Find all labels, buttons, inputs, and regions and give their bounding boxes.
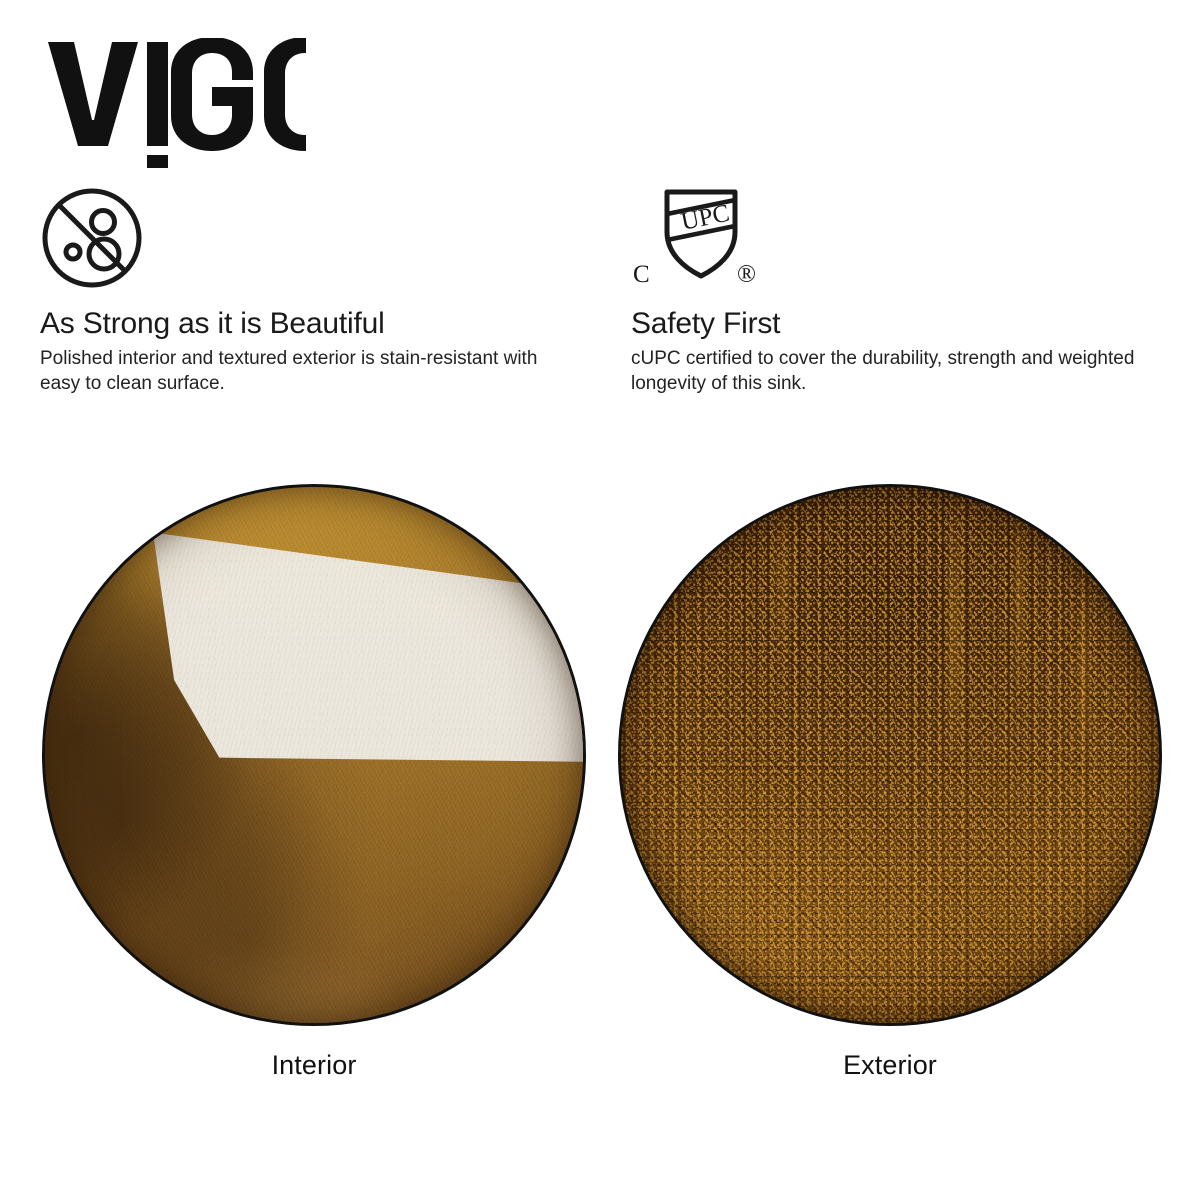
feature-icon-wrap-right: UPC C ®: [631, 186, 1191, 290]
cupc-shield-certification-icon: UPC C ®: [631, 186, 761, 290]
exterior-streak-texture: [621, 487, 1159, 1023]
vigo-logo-wordmark: [46, 38, 306, 168]
feature-safety-first: UPC C ® Safety First cUPC certified to c…: [631, 186, 1191, 396]
exterior-finish-disc: [618, 484, 1162, 1026]
feature-description-right: cUPC certified to cover the durability, …: [631, 346, 1151, 396]
logo-letter-i-dot: [147, 155, 168, 168]
swatch-exterior: [618, 484, 1162, 1026]
shield-prefix-c: C: [633, 261, 650, 288]
swatch-interior: [42, 484, 586, 1026]
vigo-logo: [46, 38, 306, 168]
infographic-page: As Strong as it is Beautiful Polished in…: [0, 0, 1200, 1200]
swatch-label-interior: Interior: [42, 1050, 586, 1081]
feature-title-right: Safety First: [631, 308, 1191, 340]
interior-finish-disc: [42, 484, 586, 1026]
logo-letter-o: [264, 38, 306, 151]
logo-letter-i-stem: [147, 42, 168, 146]
feature-strong-beautiful: As Strong as it is Beautiful Polished in…: [40, 186, 600, 396]
stain-resistant-no-symbol-icon: [40, 186, 144, 290]
shield-registered-mark: ®: [737, 261, 756, 288]
finish-swatch-group: [0, 484, 1200, 1044]
feature-icon-wrap-left: [40, 186, 600, 290]
swatch-label-exterior: Exterior: [618, 1050, 1162, 1081]
feature-description-left: Polished interior and textured exterior …: [40, 346, 560, 396]
logo-letter-v: [48, 42, 138, 146]
logo-letter-g: [171, 38, 253, 151]
feature-title-left: As Strong as it is Beautiful: [40, 308, 600, 340]
